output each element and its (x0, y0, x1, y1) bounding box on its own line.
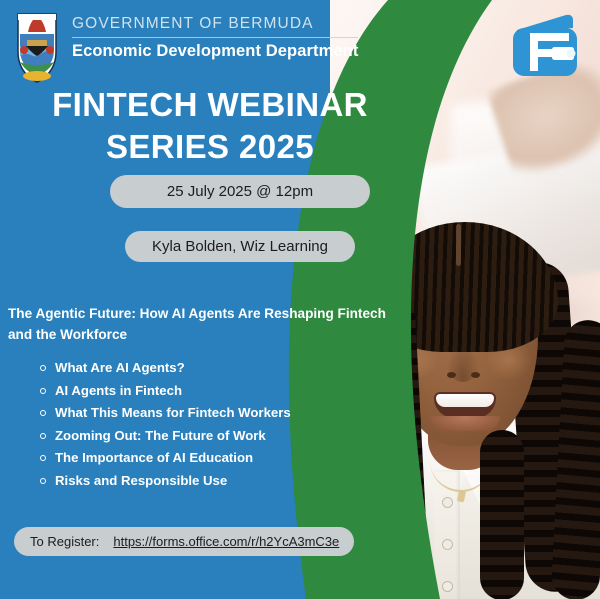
department-line: Economic Development Department (72, 41, 358, 62)
speaker-badge: Kyla Bolden, Wiz Learning (125, 231, 355, 262)
registration-link[interactable]: https://forms.office.com/r/h2YcA3mC3e (113, 534, 339, 549)
government-line: GOVERNMENT OF BERMUDA (72, 14, 358, 35)
shirt-button (443, 498, 452, 507)
shirt-button (443, 582, 452, 591)
topic-list: What Are AI Agents? AI Agents in Fintech… (40, 361, 370, 497)
list-item: What This Means for Fintech Workers (40, 406, 370, 419)
topic-label: What Are AI Agents? (55, 361, 185, 374)
header-divider (72, 37, 358, 38)
list-item: The Importance of AI Education (40, 451, 370, 464)
topic-label: AI Agents in Fintech (55, 384, 182, 397)
hair-part (456, 224, 461, 266)
bullet-icon (40, 365, 46, 371)
webinar-poster: GOVERNMENT OF BERMUDA Economic Developme… (0, 0, 600, 599)
topic-label: Zooming Out: The Future of Work (55, 429, 266, 442)
poster-title: FINTECH WEBINAR SERIES 2025 (0, 84, 420, 168)
bullet-icon (40, 478, 46, 484)
bullet-icon (40, 410, 46, 416)
nostril-right (471, 372, 480, 378)
topic-label: Risks and Responsible Use (55, 474, 227, 487)
register-label: To Register: (30, 534, 99, 549)
list-item: Zooming Out: The Future of Work (40, 429, 370, 442)
topic-label: What This Means for Fintech Workers (55, 406, 291, 419)
mouth (434, 392, 496, 418)
title-line-1: FINTECH WEBINAR (0, 84, 420, 126)
date-time-badge: 25 July 2025 @ 12pm (110, 175, 370, 208)
topic-label: The Importance of AI Education (55, 451, 253, 464)
bullet-icon (40, 455, 46, 461)
fintech-wallet-logo-icon (508, 14, 582, 80)
registration-badge: To Register: https://forms.office.com/r/… (14, 527, 354, 556)
bullet-icon (40, 388, 46, 394)
list-item: Risks and Responsible Use (40, 474, 370, 487)
session-subtitle: The Agentic Future: How AI Agents Are Re… (8, 304, 386, 345)
bullet-icon (40, 433, 46, 439)
braid-strand (480, 430, 524, 599)
bermuda-coat-of-arms-icon (14, 10, 60, 86)
nostril-left (447, 372, 456, 378)
list-item: AI Agents in Fintech (40, 384, 370, 397)
list-item: What Are AI Agents? (40, 361, 370, 374)
header: GOVERNMENT OF BERMUDA Economic Developme… (14, 10, 358, 86)
shirt-button (443, 540, 452, 549)
lower-lip (430, 416, 500, 431)
title-line-2: SERIES 2025 (0, 126, 420, 168)
